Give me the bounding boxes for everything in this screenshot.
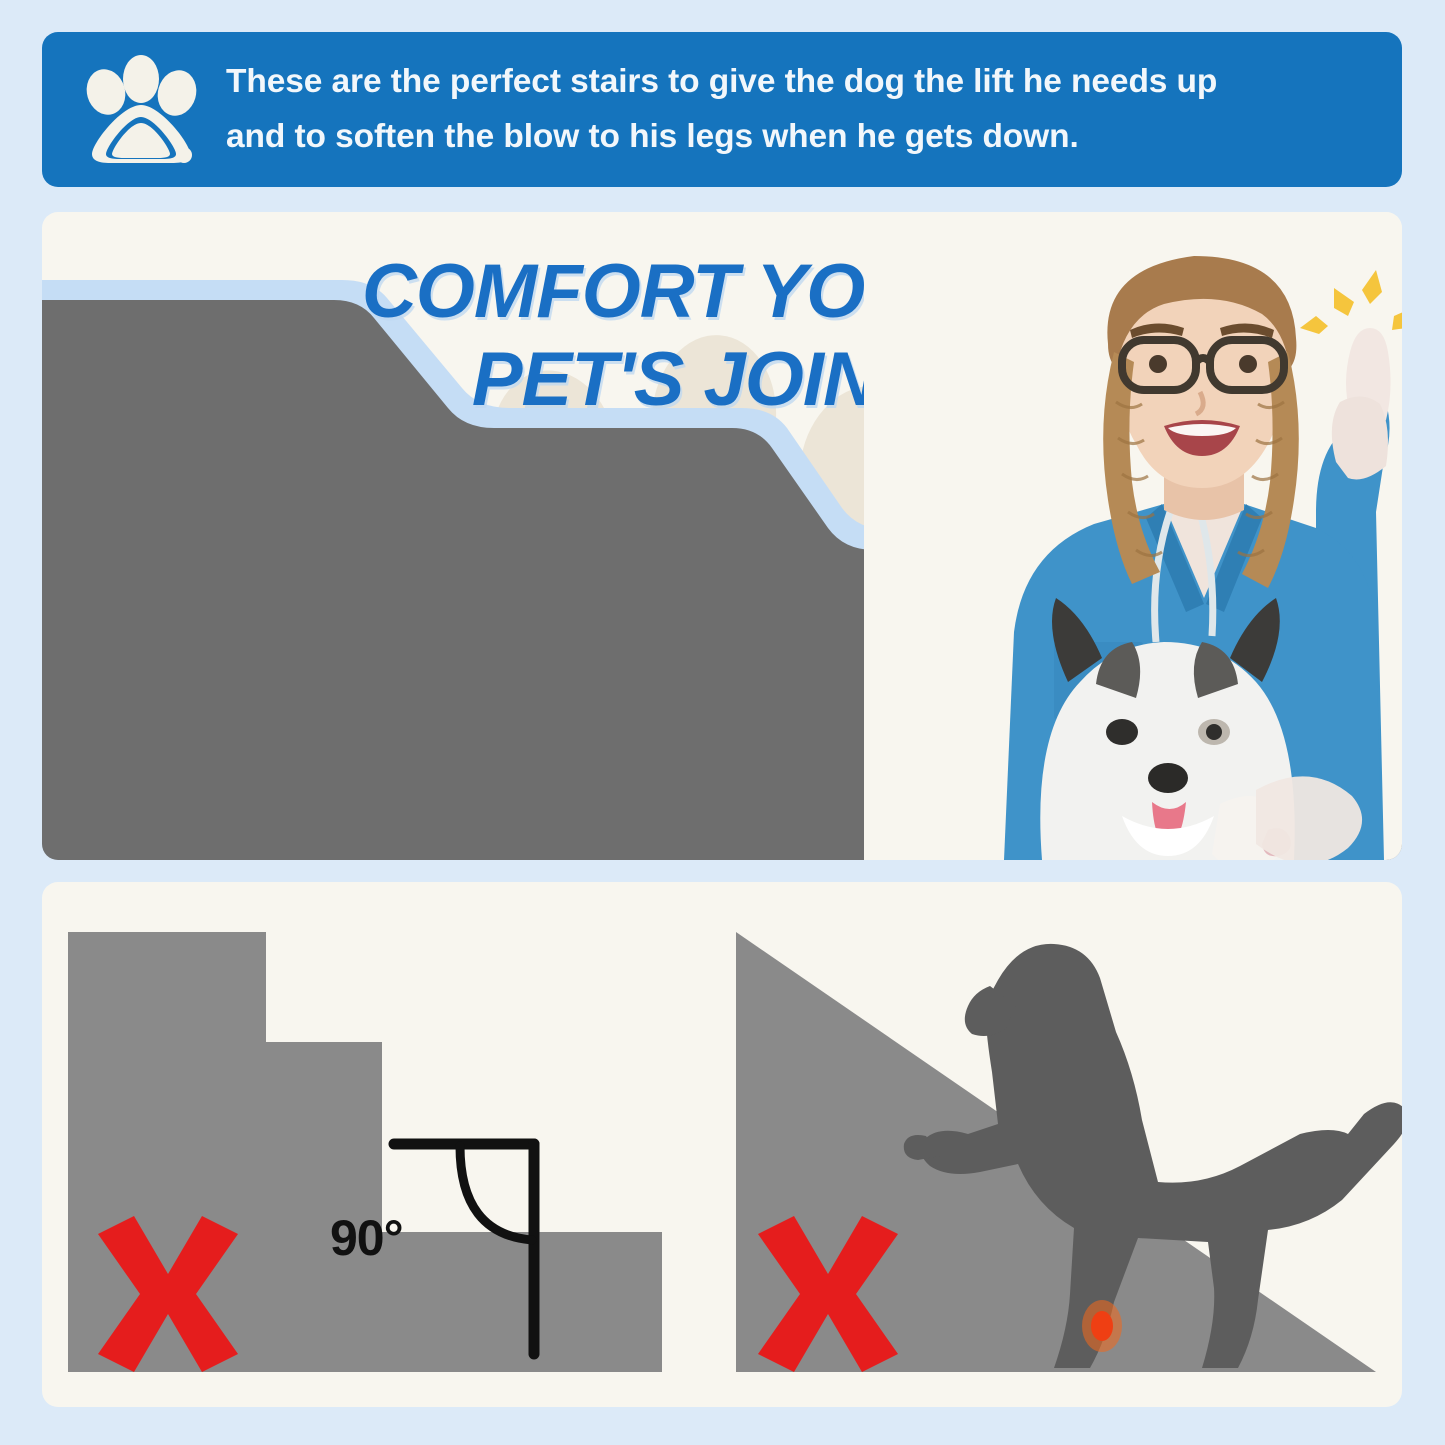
page-title: COMFORT YOUR PET'S JOINTS (42, 248, 972, 424)
banner-line-2: and to soften the blow to his legs when … (226, 110, 1217, 164)
comparison-graphics (42, 882, 1402, 1407)
banner-line-1: These are the perfect stairs to give the… (226, 55, 1217, 109)
paw-print-icon (82, 55, 200, 165)
hero-card: COMFORT YOUR PET'S JOINTS (42, 212, 1402, 860)
angle-label: 90° (330, 1209, 403, 1267)
joint-pain-indicator (1082, 1300, 1122, 1352)
banner-text: These are the perfect stairs to give the… (226, 55, 1217, 164)
headline-banner: These are the perfect stairs to give the… (42, 32, 1402, 187)
veterinarian-with-dog-photo (864, 212, 1402, 860)
infographic-page: These are the perfect stairs to give the… (0, 0, 1445, 1445)
comparison-card: 90° (42, 882, 1402, 1407)
